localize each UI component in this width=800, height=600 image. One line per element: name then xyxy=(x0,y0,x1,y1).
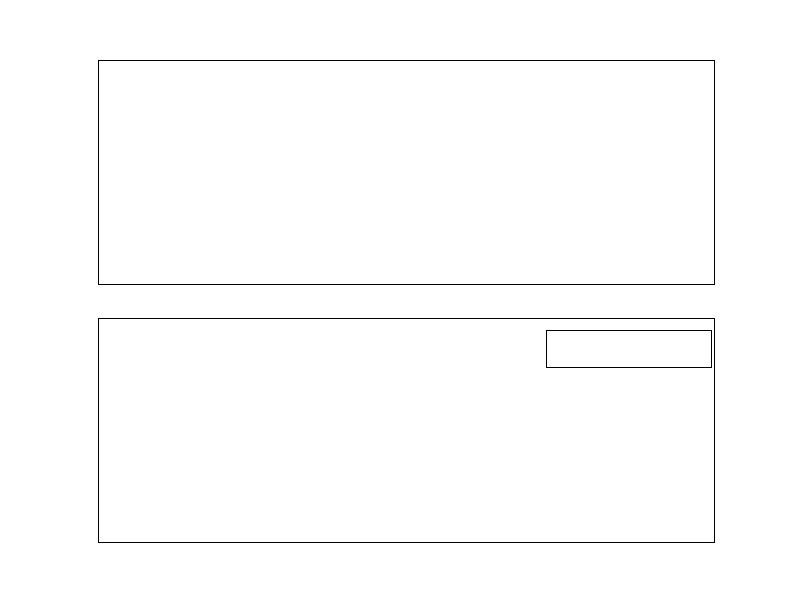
figure-canvas xyxy=(0,0,800,600)
histogram-axes xyxy=(98,60,715,285)
legend[interactable] xyxy=(546,330,712,368)
mag-limit-line-icon xyxy=(557,348,601,350)
histogram-plot-area xyxy=(99,61,714,284)
